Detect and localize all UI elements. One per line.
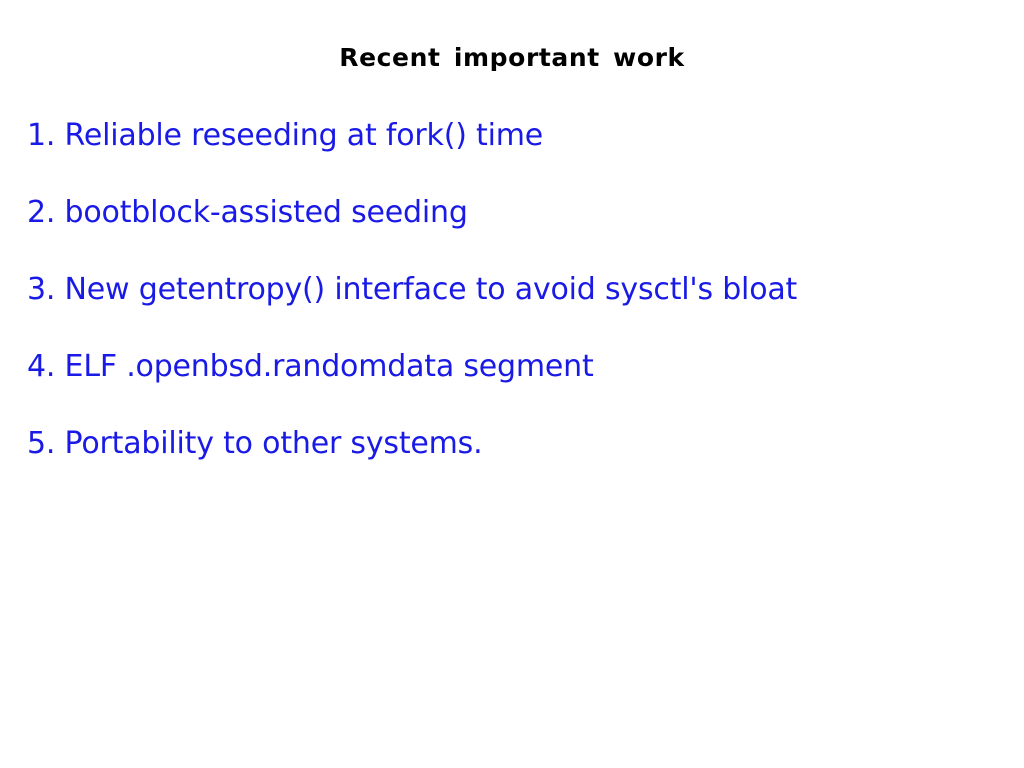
bullet-list: 1. Reliable reseeding at fork() time 2. … — [27, 118, 987, 462]
presentation-slide: Recent important work 1. Reliable reseed… — [0, 0, 1024, 768]
list-item: 3. New getentropy() interface to avoid s… — [27, 272, 987, 349]
list-item: 4. ELF .openbsd.randomdata segment — [27, 349, 987, 426]
list-item: 2. bootblock-assisted seeding — [27, 195, 987, 272]
list-item: 5. Portability to other systems. — [27, 426, 987, 462]
list-item: 1. Reliable reseeding at fork() time — [27, 118, 987, 195]
slide-title: Recent important work — [0, 43, 1024, 73]
